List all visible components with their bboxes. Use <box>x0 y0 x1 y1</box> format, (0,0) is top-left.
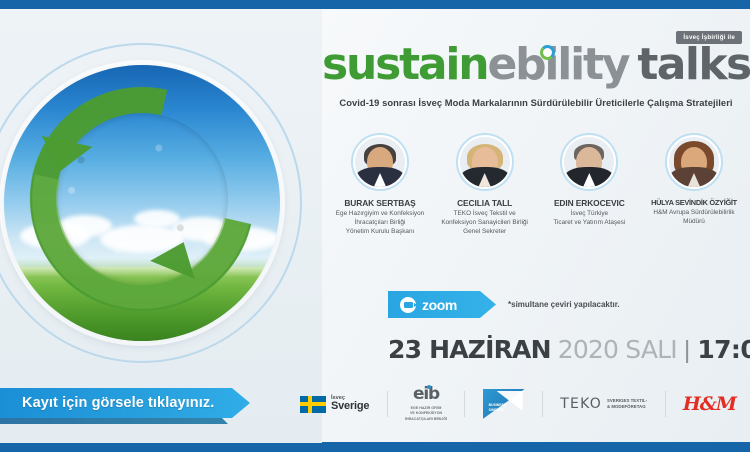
speaker-card: BURAK SERTBAŞ Ege Hazırgiyim ve Konfeksi… <box>330 133 430 236</box>
avatar-burak-sertbas <box>355 137 405 187</box>
avatar-edin-erkocevic <box>564 137 614 187</box>
speaker-role: Ege Hazırgiyim ve Konfeksiyon İhracatçıl… <box>330 210 430 236</box>
teko-subtitle: SVERIGES TEXTIL- & MODEFÖRETAG <box>607 398 647 411</box>
datetime-separator: | <box>684 336 691 365</box>
video-camera-icon <box>400 297 416 313</box>
event-datetime: 23 HAZİRAN 2020 SALI | 17:00 <box>388 335 750 365</box>
logo-part-bility: bility <box>515 39 628 90</box>
event-subtitle: Covid-19 sonrası İsveç Moda Markalarının… <box>326 97 746 108</box>
recycle-circle-icon <box>540 45 555 60</box>
avatar <box>665 133 723 191</box>
left-visual-panel <box>0 9 322 443</box>
logo-divider <box>387 391 388 417</box>
speaker-name: BURAK SERTBAŞ <box>330 198 430 208</box>
business-sweden-label: BUSINESS SWEDEN <box>489 403 506 412</box>
translation-note: *simultane çeviri yapılacaktır. <box>508 300 620 309</box>
sponsor-logo-hm[interactable]: H&M <box>683 387 736 421</box>
speaker-card: CECILIA TALL TEKO İsveç Tekstil ve Konfe… <box>435 133 535 236</box>
cta-ribbon-shadow <box>0 418 228 424</box>
speaker-role: TEKO İsveç Tekstil ve Konfeksiyon Sanayi… <box>435 210 535 236</box>
platform-row: zoom *simultane çeviri yapılacaktır. <box>388 291 620 318</box>
avatar <box>560 133 618 191</box>
event-day-month: 23 HAZİRAN <box>388 335 551 364</box>
event-time: 17:00 <box>697 335 750 364</box>
avatar-hulya-sevindik-ozyigit <box>669 137 719 187</box>
speaker-name: EDIN ERKOCEVIC <box>539 198 639 208</box>
recycle-photo-disc <box>4 65 280 341</box>
logo-part-talks: talks <box>637 39 750 90</box>
hm-wordmark: H&M <box>683 393 736 415</box>
speaker-role: H&M Avrupa Sürdürülebilirlik Müdürü <box>644 209 744 227</box>
sponsor-logo-sweden-sverige[interactable]: İsveç Sverige <box>300 387 369 421</box>
business-sweden-icon: BUSINESS SWEDEN <box>483 389 525 419</box>
speaker-name: HÜLYA SEVİNDİK ÖZYİĞİT <box>644 198 744 207</box>
teko-wordmark: TEKO <box>560 396 602 412</box>
eib-wordmark: eib <box>413 386 439 403</box>
sponsor-logo-teko[interactable]: TEKO SVERIGES TEXTIL- & MODEFÖRETAG <box>560 387 647 421</box>
sverige-label: Sverige <box>331 401 369 412</box>
avatar-cecilia-tall <box>460 137 510 187</box>
speakers-row: BURAK SERTBAŞ Ege Hazırgiyim ve Konfeksi… <box>330 133 744 236</box>
zoom-platform-badge[interactable]: zoom <box>388 291 496 318</box>
registration-cta-ribbon[interactable]: Kayıt için görsele tıklayınız. <box>0 388 250 418</box>
right-content-panel: İsveç İşbirliği ile sustainebilitytalks … <box>322 9 750 443</box>
speaker-card: EDIN ERKOCEVIC İsveç Türkiye Ticaret ve … <box>539 133 639 236</box>
cta-label: Kayıt için görsele tıklayınız. <box>22 395 214 411</box>
avatar <box>351 133 409 191</box>
speaker-card: HÜLYA SEVİNDİK ÖZYİĞİT H&M Avrupa Sürdür… <box>644 133 744 236</box>
logo-divider <box>665 391 666 417</box>
zoom-label: zoom <box>422 297 457 313</box>
event-year-weekday: 2020 SALI <box>558 335 677 364</box>
speaker-role: İsveç Türkiye Ticaret ve Yatırım Ataşesi <box>539 210 639 228</box>
sponsor-logo-business-sweden[interactable]: BUSINESS SWEDEN <box>483 387 525 421</box>
speaker-name: CECILIA TALL <box>435 198 535 208</box>
sponsor-logo-eib[interactable]: eib EGE HAZIR GİYİM VE KONFEKSİYON İHRAC… <box>405 387 447 421</box>
eib-subtitle: EGE HAZIR GİYİM VE KONFEKSİYON İHRACATÇI… <box>405 406 447 422</box>
logo-divider <box>464 391 465 417</box>
logo-part-e: e <box>487 39 515 90</box>
swedish-flag-icon <box>300 396 326 413</box>
avatar <box>456 133 514 191</box>
logo-part-sustain: sustain <box>322 39 487 90</box>
frame-bar-top <box>0 0 750 9</box>
frame-bar-bottom <box>0 442 750 452</box>
event-logo: sustainebilitytalks <box>322 39 750 90</box>
sponsor-logo-bar: İsveç Sverige eib EGE HAZIR GİYİM VE KON… <box>286 382 750 426</box>
logo-divider <box>542 391 543 417</box>
event-poster: Kayıt için görsele tıklayınız. İsveç İşb… <box>0 0 750 452</box>
